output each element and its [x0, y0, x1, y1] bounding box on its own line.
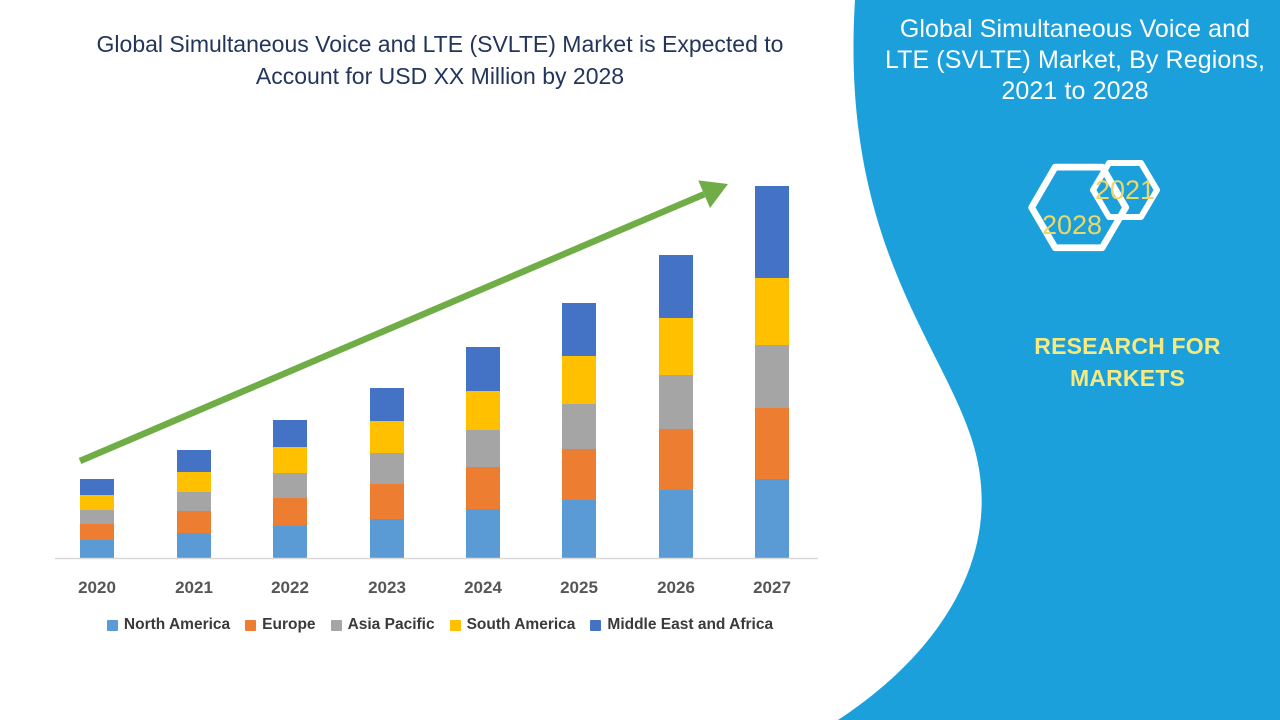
x-axis-tick-label: 2024: [464, 578, 502, 597]
bar-segment: [177, 450, 211, 472]
bar-segment: [466, 347, 500, 391]
stacked-bar-chart: 20202021202220232024202520262027: [0, 0, 830, 600]
x-axis-tick-label: 2023: [368, 578, 406, 597]
legend-label: Europe: [262, 616, 315, 634]
x-axis-tick-label: 2026: [657, 578, 695, 597]
hexagon-badges: 2028 2021: [985, 145, 1185, 285]
legend-item[interactable]: Europe: [245, 616, 315, 634]
legend-item[interactable]: Asia Pacific: [331, 616, 435, 634]
hexagon-2021-label: 2021: [1095, 175, 1155, 205]
panel-title: Global Simultaneous Voice and LTE (SVLTE…: [880, 14, 1270, 107]
bars-group: [80, 186, 789, 558]
bar-segment: [562, 303, 596, 356]
bar-segment: [755, 186, 789, 278]
bar-segment: [273, 473, 307, 498]
legend-item[interactable]: South America: [450, 616, 576, 634]
brand-line-1: RESEARCH FOR: [1005, 330, 1250, 362]
legend-swatch-icon: [245, 620, 256, 631]
bar-segment: [370, 484, 404, 519]
bar-segment: [80, 479, 114, 495]
bar-segment: [755, 479, 789, 558]
bar-segment: [273, 526, 307, 558]
bar-segment: [659, 429, 693, 490]
bar-segment: [659, 255, 693, 318]
bar-segment: [177, 472, 211, 492]
x-axis-tick-labels: 20202021202220232024202520262027: [78, 578, 791, 597]
bar-segment: [370, 453, 404, 484]
legend-swatch-icon: [450, 620, 461, 631]
bar-segment: [659, 375, 693, 429]
bar-segment: [273, 498, 307, 526]
bar-segment: [80, 524, 114, 540]
legend-swatch-icon: [331, 620, 342, 631]
bar-segment: [177, 533, 211, 558]
brand-line-2: MARKETS: [1005, 362, 1250, 394]
bar-segment: [466, 430, 500, 467]
legend-swatch-icon: [107, 620, 118, 631]
x-axis-tick-label: 2020: [78, 578, 116, 597]
legend-label: North America: [124, 616, 230, 634]
bar-segment: [80, 540, 114, 558]
bar-segment: [562, 404, 596, 449]
chart-legend: North AmericaEuropeAsia PacificSouth Ame…: [55, 616, 825, 634]
hexagon-2028-label: 2028: [1042, 210, 1102, 240]
x-axis-tick-label: 2025: [560, 578, 598, 597]
bar-segment: [80, 510, 114, 524]
bar-segment: [80, 495, 114, 510]
bar-segment: [273, 420, 307, 447]
bar-segment: [466, 467, 500, 509]
legend-label: South America: [467, 616, 576, 634]
bar-segment: [755, 408, 789, 479]
bar-segment: [755, 345, 789, 408]
x-axis-tick-label: 2027: [753, 578, 791, 597]
bar-segment: [562, 500, 596, 558]
bar-segment: [755, 278, 789, 345]
bar-segment: [370, 519, 404, 558]
x-axis-tick-label: 2022: [271, 578, 309, 597]
legend-item[interactable]: North America: [107, 616, 230, 634]
bar-segment: [659, 318, 693, 375]
bar-segment: [562, 356, 596, 404]
bar-segment: [273, 447, 307, 473]
legend-label: Asia Pacific: [348, 616, 435, 634]
bar-segment: [659, 490, 693, 558]
legend-swatch-icon: [590, 620, 601, 631]
bar-segment: [562, 449, 596, 500]
brand-block: RESEARCH FOR MARKETS: [1005, 330, 1250, 394]
bar-segment: [177, 511, 211, 533]
bar-segment: [466, 391, 500, 430]
bar-segment: [177, 492, 211, 511]
bar-segment: [466, 509, 500, 558]
slide-canvas: Global Simultaneous Voice and LTE (SVLTE…: [0, 0, 1280, 720]
legend-label: Middle East and Africa: [607, 616, 773, 634]
x-axis-tick-label: 2021: [175, 578, 213, 597]
legend-item[interactable]: Middle East and Africa: [590, 616, 773, 634]
bar-segment: [370, 388, 404, 421]
bar-segment: [370, 421, 404, 453]
